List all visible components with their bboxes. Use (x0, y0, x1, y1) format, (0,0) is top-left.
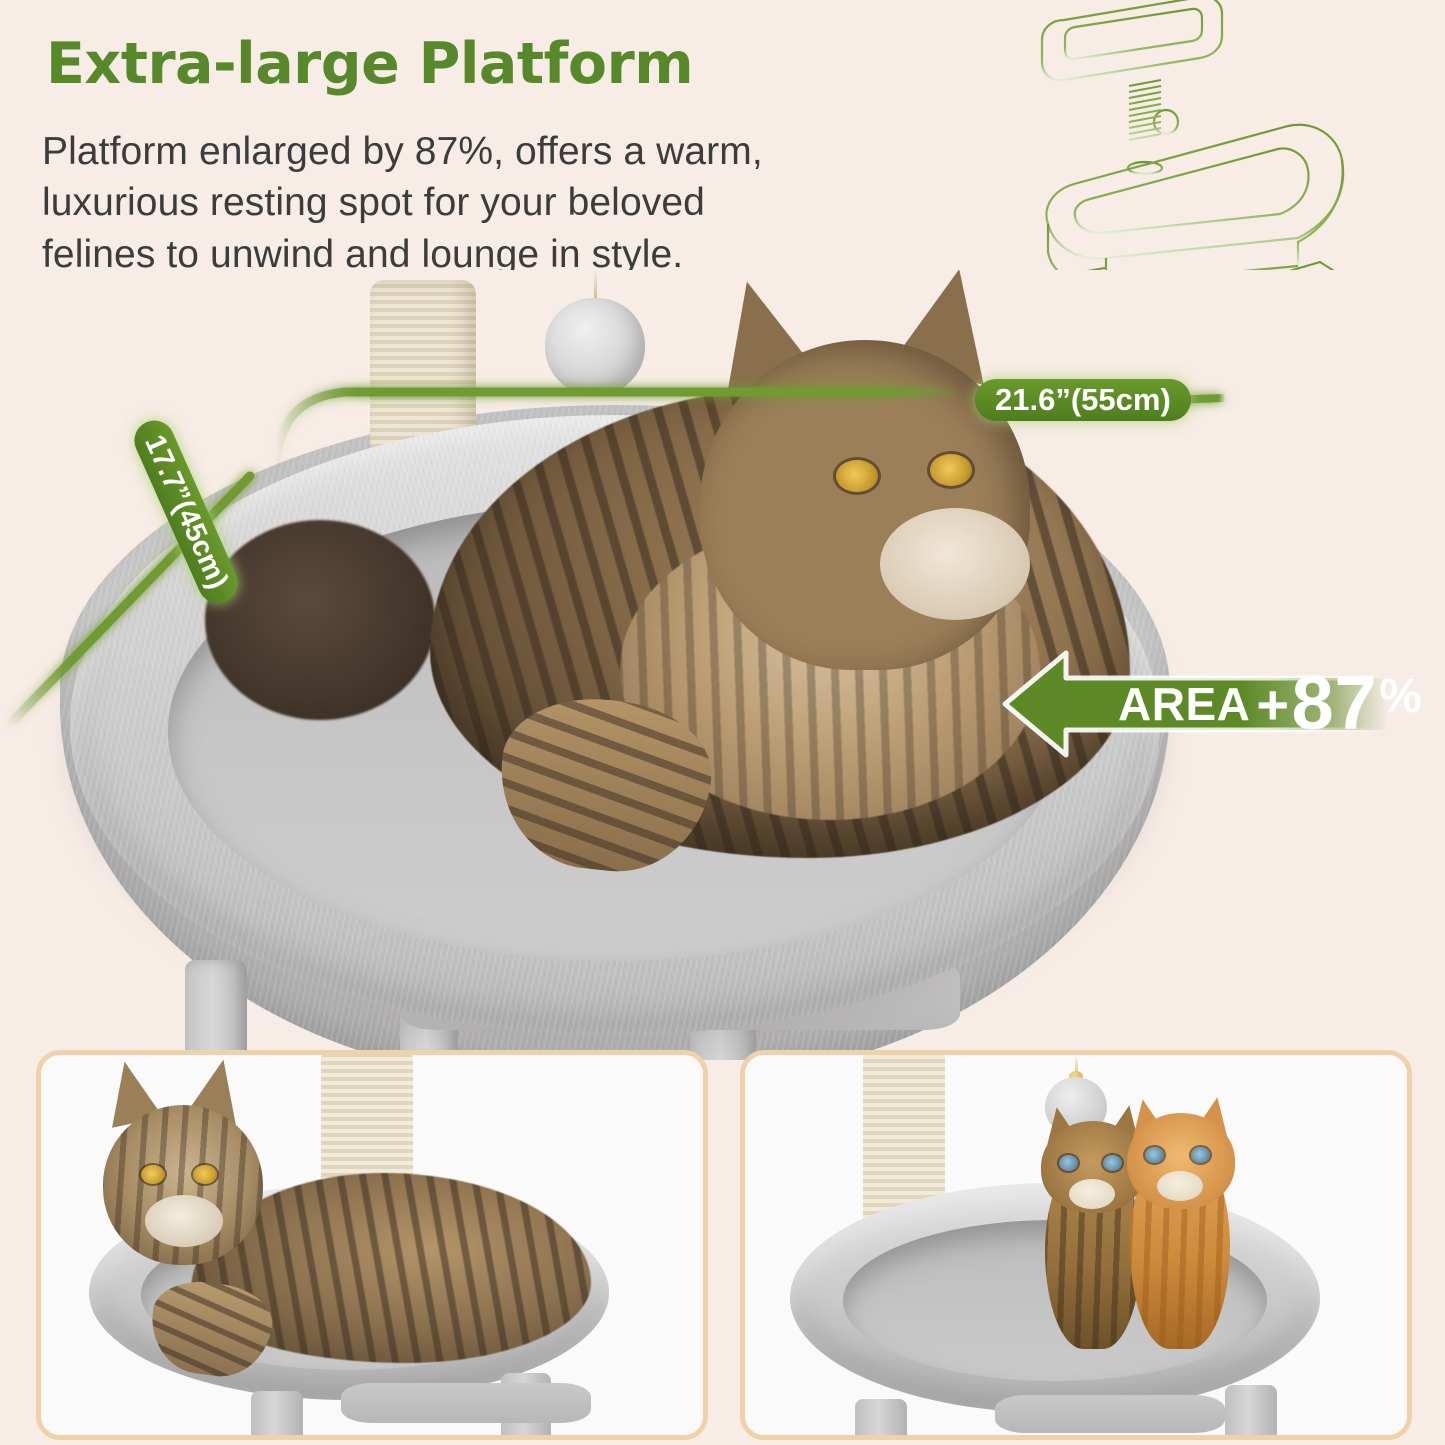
kitten-brown-eye-left (1059, 1155, 1078, 1171)
gallery-card-maine-coon[interactable] (36, 1050, 708, 1440)
badge-percent-sign: % (1379, 669, 1422, 724)
area-increase-badge: AREA + 87 % (1000, 645, 1390, 763)
maine-coon-muzzle (145, 1195, 223, 1247)
badge-number: 87 (1292, 670, 1378, 738)
description-line-2: luxurious resting spot for your beloved (42, 177, 962, 228)
gallery-row (0, 1044, 1445, 1444)
card-photo-maine-coon (41, 1055, 703, 1435)
page-title: Extra-large Platform (46, 36, 986, 93)
maine-coon-eye-left (141, 1165, 165, 1184)
cat-eye-left (836, 460, 878, 492)
kitten-brown-muzzle (1069, 1179, 1115, 1209)
product-feature-graphic: Extra-large Platform Platform enlarged b… (0, 0, 1445, 1445)
description-text: Platform enlarged by 87%, offers a warm,… (42, 126, 962, 280)
badge-plus-sign: + (1256, 672, 1289, 737)
cat-muzzle (880, 508, 1030, 620)
mini-leg-left (251, 1391, 303, 1440)
hanging-pompom-toy (545, 298, 645, 396)
badge-prefix: AREA (1118, 677, 1250, 731)
kitten-leg-left (855, 1399, 907, 1440)
area-badge-text: AREA + 87 % (1118, 645, 1388, 763)
kitten-orange-eye-right (1191, 1147, 1210, 1163)
maine-coon-eye-right (193, 1165, 217, 1184)
dimension-label-width: 21.6”(55cm) (975, 379, 1191, 421)
kitten-brown-eye-right (1103, 1155, 1122, 1171)
cat-eye-right (930, 454, 972, 486)
kitten-orange-eye-left (1145, 1147, 1164, 1163)
cat-tail (205, 520, 435, 720)
kitten-leg-right (1225, 1385, 1277, 1440)
card-photo-kittens (745, 1055, 1407, 1435)
kitten-orange-muzzle (1157, 1171, 1203, 1201)
kitten-lower-shelf (995, 1395, 1225, 1433)
mini-lower-shelf (341, 1383, 591, 1423)
gallery-card-kittens[interactable] (740, 1050, 1412, 1440)
description-line-1: Platform enlarged by 87%, offers a warm, (42, 126, 962, 177)
